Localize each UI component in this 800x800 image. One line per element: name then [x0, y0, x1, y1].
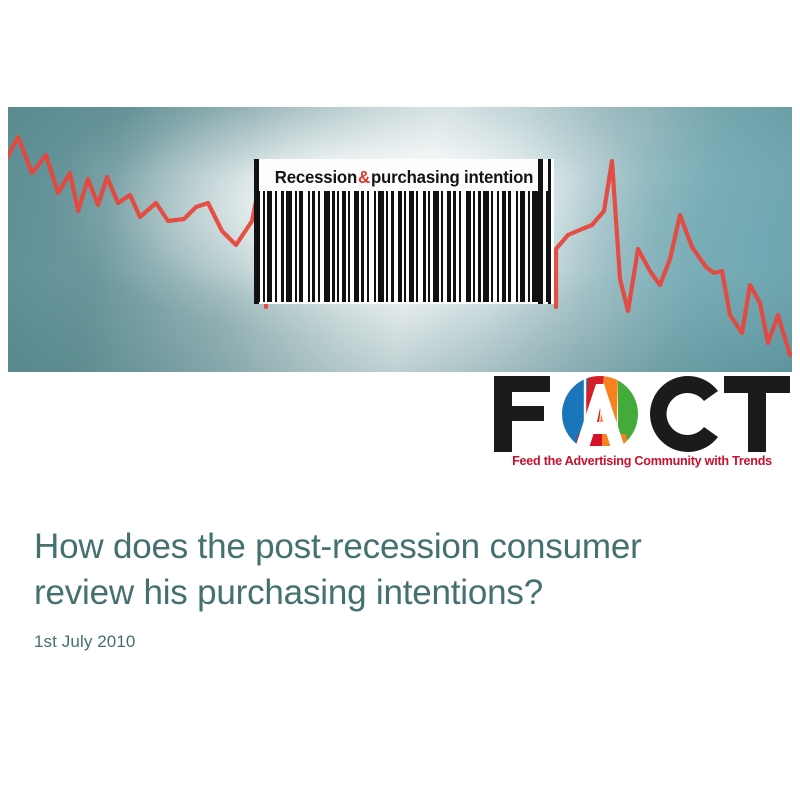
logo-letter-t — [724, 376, 790, 452]
barcode-bar — [286, 191, 292, 302]
logo-letter-a-disc — [562, 376, 640, 454]
barcode-bar — [416, 191, 418, 302]
barcode-bar — [267, 191, 272, 302]
barcode-bar — [428, 191, 430, 302]
barcode-bar — [459, 191, 461, 302]
barcode-bar — [491, 191, 493, 302]
barcode-bar — [404, 191, 406, 302]
barcode-bar — [466, 191, 471, 302]
barcode-bar — [423, 191, 426, 302]
logo-letter-c — [650, 376, 718, 452]
barcode-bar — [374, 191, 376, 302]
barcode-bar — [367, 191, 369, 302]
fact-logo-tagline: Feed the Advertising Community with Tren… — [492, 454, 792, 468]
line-path-right — [556, 161, 790, 355]
slide-canvas: Recession & purchasing intention — [0, 0, 800, 800]
barcode-bar — [332, 191, 335, 302]
barcode-bar — [275, 191, 277, 302]
barcode-bar — [342, 191, 346, 302]
barcode-bar — [391, 191, 394, 302]
banner-image: Recession & purchasing intention — [8, 107, 792, 372]
barcode-bar — [502, 191, 506, 302]
title-block: How does the post-recession consumer rev… — [34, 524, 764, 652]
barcode-bar — [532, 191, 538, 302]
barcode-bar — [528, 191, 530, 302]
barcode-bars — [256, 191, 552, 302]
barcode-bar — [453, 191, 456, 302]
barcode-bar — [299, 191, 303, 302]
line-path-left — [8, 137, 266, 307]
barcode-bar — [295, 191, 297, 302]
barcode-bar — [378, 191, 384, 302]
barcode-bar — [540, 191, 542, 302]
barcode-bar — [354, 191, 359, 302]
barcode-label-prefix: Recession — [275, 167, 357, 188]
barcode-bar — [497, 191, 499, 302]
barcode-bar — [409, 191, 414, 302]
barcode-bar — [483, 191, 489, 302]
page-title-line-1: How does the post-recession consumer — [34, 527, 642, 566]
fact-logo: Feed the Advertising Community with Tren… — [492, 372, 792, 476]
barcode-bar — [312, 191, 315, 302]
barcode-label-ampersand: & — [357, 167, 371, 188]
barcode-bar — [433, 191, 439, 302]
barcode-bar — [508, 191, 511, 302]
page-title: How does the post-recession consumer rev… — [34, 524, 764, 616]
barcode-bar — [281, 191, 284, 302]
barcode-bar — [256, 191, 260, 302]
barcode-bar — [473, 191, 475, 302]
barcode-bar — [516, 191, 518, 302]
fact-logo-mark — [492, 372, 792, 454]
barcode-bar — [520, 191, 525, 302]
logo-letter-f — [494, 376, 550, 452]
barcode-bar — [478, 191, 481, 302]
barcode-bar — [441, 191, 443, 302]
barcode-bar — [308, 191, 310, 302]
barcode-bar — [361, 191, 364, 302]
slide-date: 1st July 2010 — [34, 632, 764, 652]
barcode-bar — [546, 191, 549, 302]
barcode-label-suffix: purchasing intention — [371, 167, 533, 188]
barcode-label: Recession & purchasing intention — [275, 164, 532, 190]
barcode-bar — [348, 191, 350, 302]
barcode-bar — [318, 191, 320, 302]
barcode-bar — [398, 191, 402, 302]
barcode-bar — [447, 191, 451, 302]
barcode-bar — [324, 191, 330, 302]
barcode-graphic: Recession & purchasing intention — [248, 159, 560, 304]
barcode-bar — [263, 191, 265, 302]
page-title-line-2: review his purchasing intentions? — [34, 573, 543, 612]
barcode-bar — [337, 191, 339, 302]
barcode-bar — [386, 191, 388, 302]
